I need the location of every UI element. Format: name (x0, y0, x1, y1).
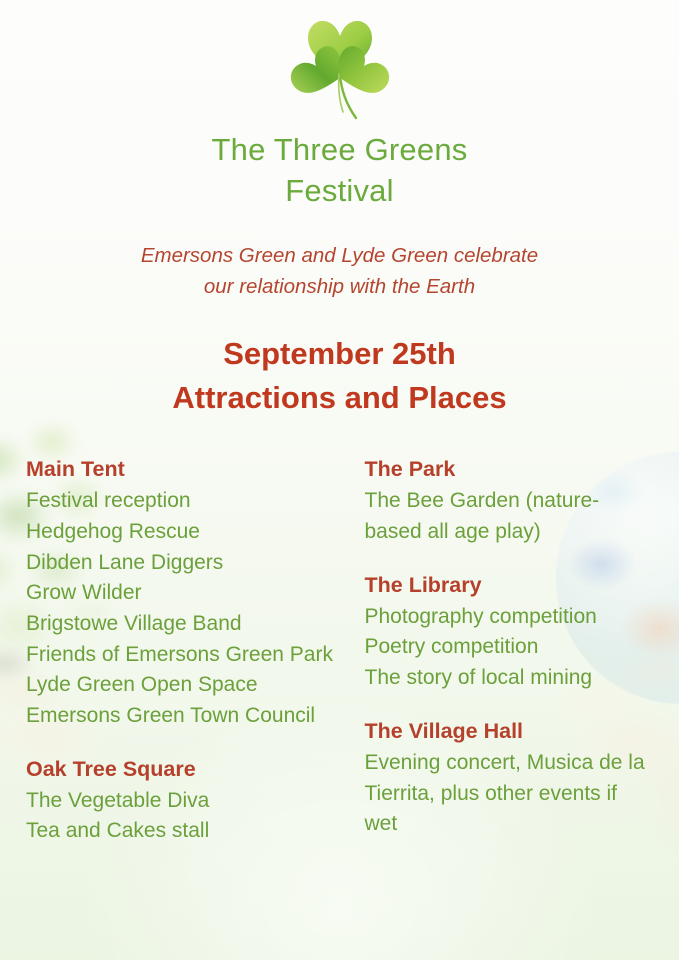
venue-item: Tea and Cakes stall (26, 816, 340, 847)
right-column: The Park The Bee Garden (nature-based al… (340, 454, 654, 847)
venue-item: Photography competition (365, 602, 654, 633)
venue-item: Friends of Emersons Green Park (26, 640, 340, 671)
venue-item: Poetry competition (365, 632, 654, 663)
venue-group: The Park The Bee Garden (nature-based al… (365, 454, 654, 547)
festival-logo: The Three Greens Festival (0, 0, 679, 212)
tagline-line1: Emersons Green and Lyde Green celebrate (0, 240, 679, 271)
venue-item: The story of local mining (365, 663, 654, 694)
venue-item: Grow Wilder (26, 578, 340, 609)
venue-item: Hedgehog Rescue (26, 517, 340, 548)
venue-title: Oak Tree Square (26, 754, 340, 785)
venue-title: The Village Hall (365, 716, 654, 747)
venue-title: The Park (365, 454, 654, 485)
clover-leaf-icon (280, 8, 400, 126)
venue-item: Evening concert, Musica de la Tierrita, … (365, 748, 654, 840)
venue-item: Dibden Lane Diggers (26, 548, 340, 579)
listings: Main Tent Festival reception Hedgehog Re… (0, 454, 679, 847)
tagline: Emersons Green and Lyde Green celebrate … (0, 240, 679, 302)
logo-title: The Three Greens Festival (0, 130, 679, 212)
logo-title-line2: Festival (0, 171, 679, 212)
venue-item: The Vegetable Diva (26, 786, 340, 817)
venue-group: Main Tent Festival reception Hedgehog Re… (26, 454, 340, 731)
left-column: Main Tent Festival reception Hedgehog Re… (26, 454, 340, 847)
tagline-line2: our relationship with the Earth (0, 271, 679, 302)
logo-title-line1: The Three Greens (0, 130, 679, 171)
venue-group: The Library Photography competition Poet… (365, 570, 654, 694)
venue-title: The Library (365, 570, 654, 601)
venue-item: Festival reception (26, 486, 340, 517)
venue-title: Main Tent (26, 454, 340, 485)
venue-group: Oak Tree Square The Vegetable Diva Tea a… (26, 754, 340, 847)
headline: September 25th Attractions and Places (0, 332, 679, 420)
poster-content: The Three Greens Festival Emersons Green… (0, 0, 679, 960)
venue-item: Emersons Green Town Council (26, 701, 340, 732)
page-title: Attractions and Places (0, 376, 679, 420)
venue-group: The Village Hall Evening concert, Musica… (365, 716, 654, 840)
venue-item: Brigstowe Village Band (26, 609, 340, 640)
venue-item: Lyde Green Open Space (26, 670, 340, 701)
event-date: September 25th (0, 332, 679, 376)
festival-poster: The Three Greens Festival Emersons Green… (0, 0, 679, 960)
venue-item: The Bee Garden (nature-based all age pla… (365, 486, 654, 547)
